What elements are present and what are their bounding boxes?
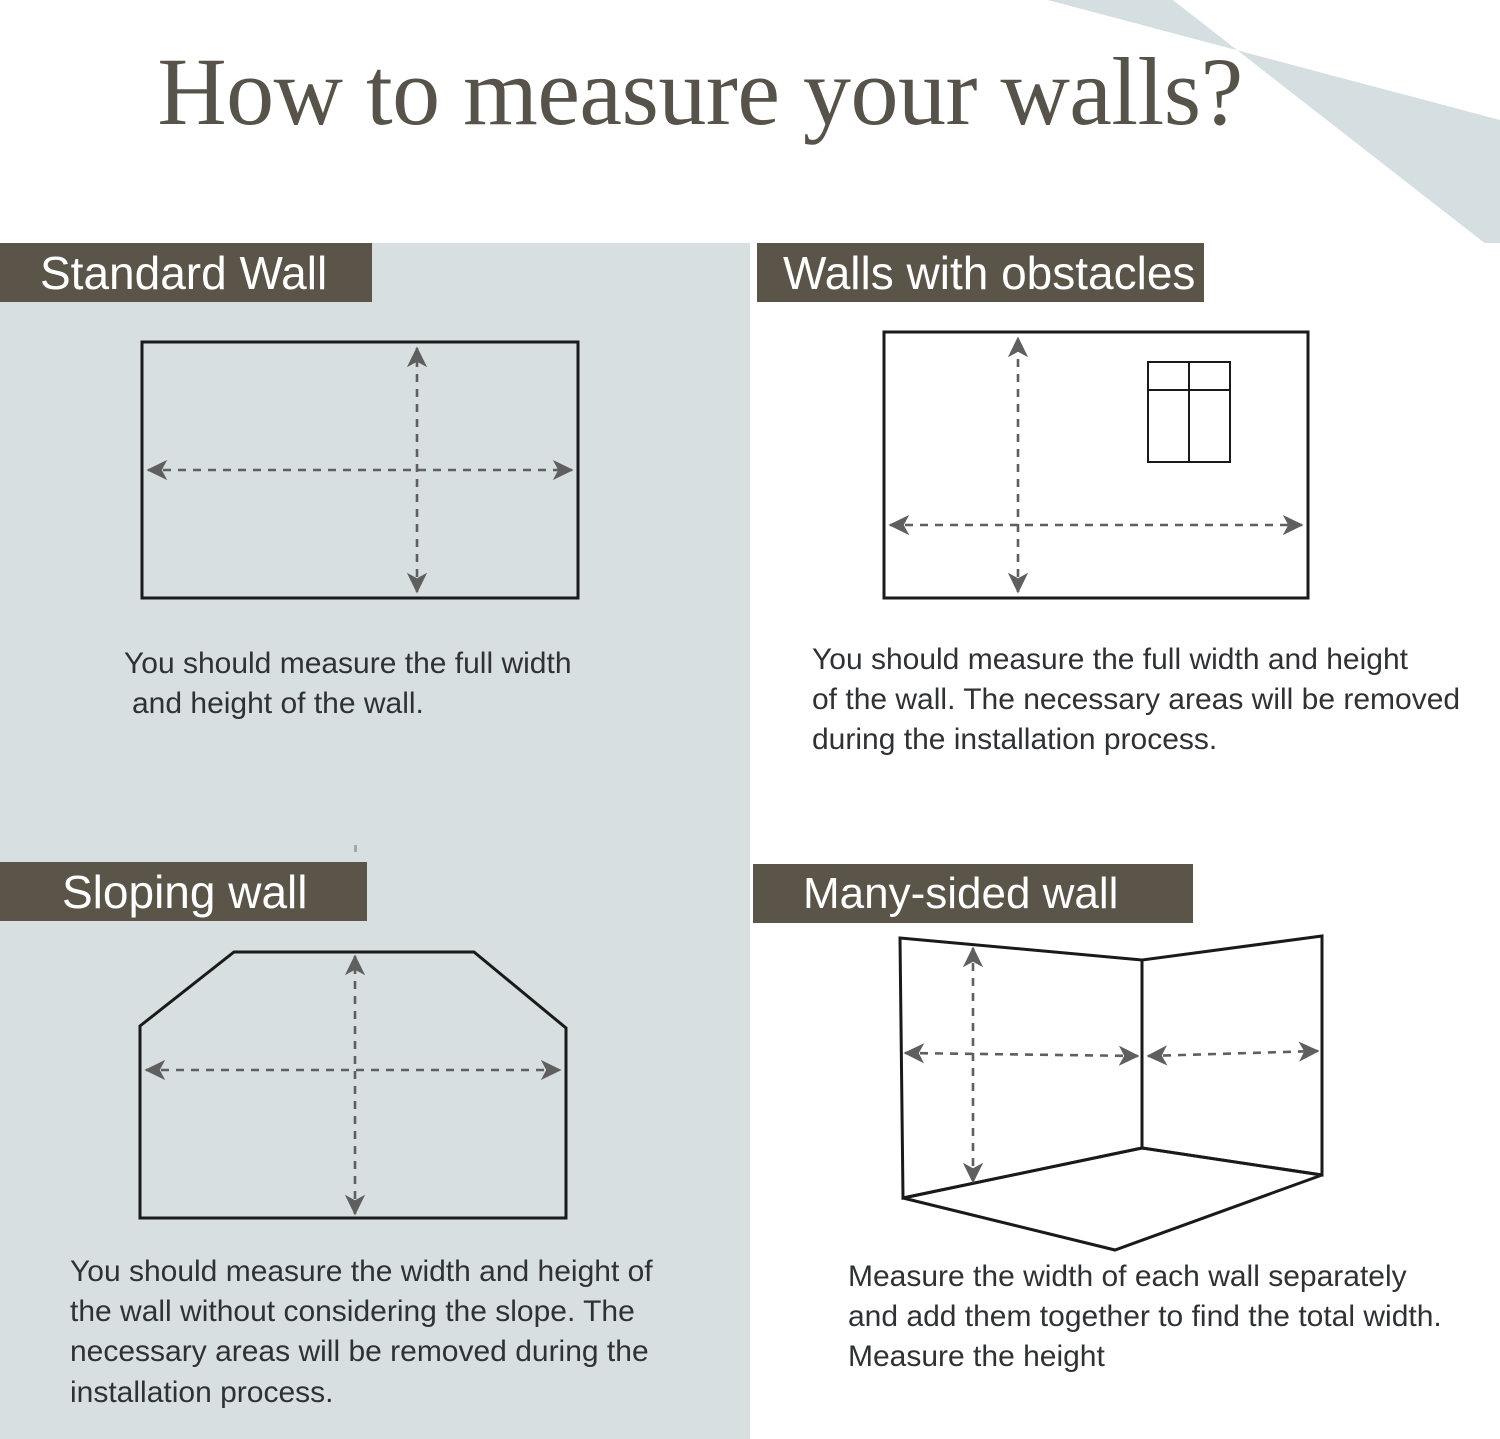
caption-line: necessary areas will be removed during t…: [70, 1332, 690, 1372]
caption-line: You should measure the full width: [124, 644, 644, 684]
diagram-standard-wall: [120, 320, 600, 620]
infographic-canvas: How to measure your walls? Standard Wall…: [0, 0, 1500, 1439]
caption-many-sided-wall: Measure the width of each wall separatel…: [848, 1257, 1468, 1378]
caption-standard-wall: You should measure the full width and he…: [124, 644, 644, 724]
diagram-wall-with-obstacles: [860, 320, 1340, 620]
caption-line: installation process.: [70, 1373, 690, 1413]
caption-sloping-wall: You should measure the width and height …: [70, 1252, 690, 1413]
window-obstacle: [1148, 362, 1230, 462]
caption-walls-with-obstacles: You should measure the full width and he…: [812, 640, 1472, 761]
section-header-many-sided-wall: Many-sided wall: [753, 864, 1193, 923]
section-header-sloping-wall: Sloping wall: [0, 862, 367, 921]
caption-line: You should measure the width and height …: [70, 1252, 690, 1292]
caption-line: and add them together to find the total …: [848, 1297, 1468, 1337]
section-header-walls-with-obstacles: Walls with obstacles: [757, 243, 1204, 302]
stray-mark: [354, 845, 357, 852]
width-dimension-arrow-wall-1: [905, 1053, 1138, 1056]
caption-line: Measure the width of each wall separatel…: [848, 1257, 1468, 1297]
caption-line: during the installation process.: [812, 720, 1472, 760]
floor: [903, 1148, 1322, 1250]
caption-line: the wall without considering the slope. …: [70, 1292, 690, 1332]
width-dimension-arrow-wall-2: [1148, 1051, 1318, 1056]
caption-line: You should measure the full width and he…: [812, 640, 1472, 680]
diagram-many-sided-wall: [870, 920, 1370, 1260]
caption-line: Measure the height: [848, 1337, 1468, 1377]
page-title: How to measure your walls?: [0, 36, 1400, 147]
section-header-standard-wall: Standard Wall: [0, 243, 372, 302]
caption-line: of the wall. The necessary areas will be…: [812, 680, 1472, 720]
wall-left: [900, 938, 1142, 1198]
caption-line: and height of the wall.: [132, 684, 644, 724]
diagram-sloping-wall: [110, 930, 610, 1250]
